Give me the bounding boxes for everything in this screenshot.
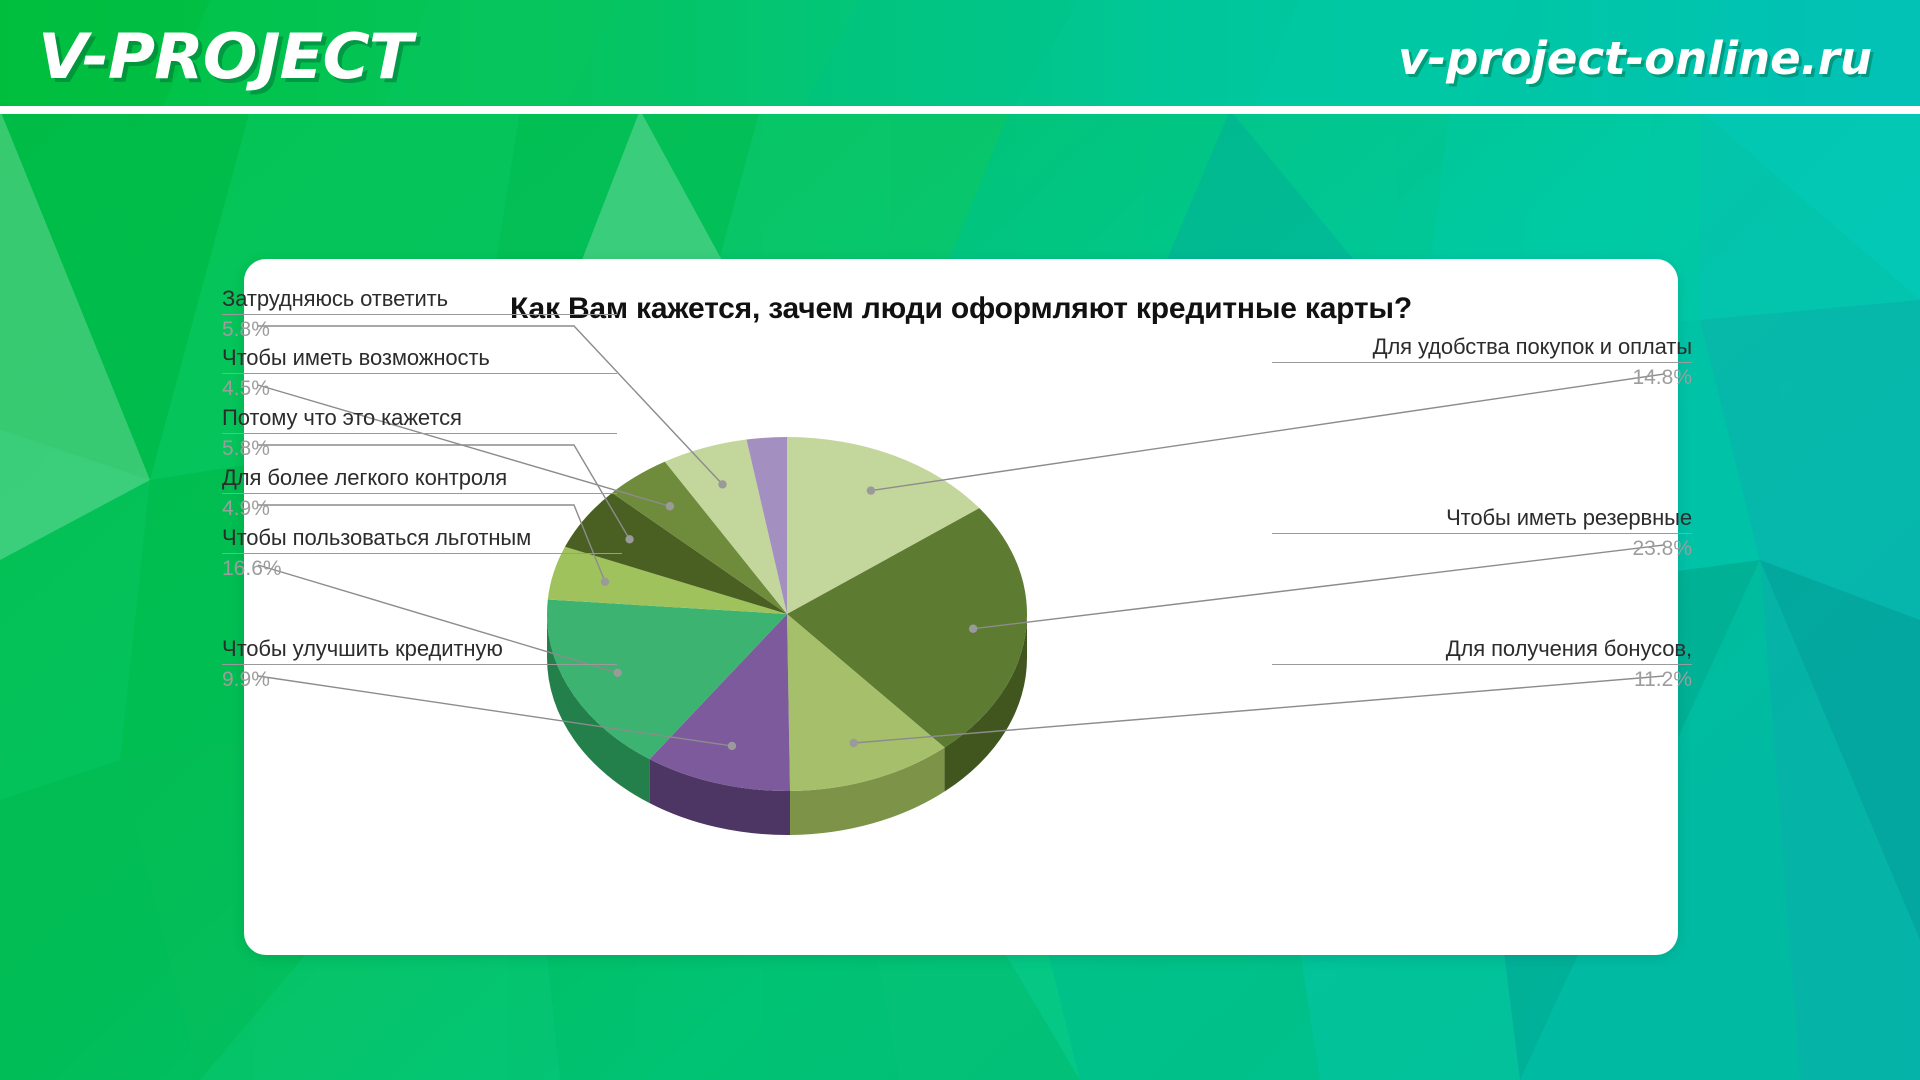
callout-udobstva: Для удобства покупок и оплаты 14.8% — [1272, 333, 1692, 392]
callout-zatrudnyayus: Затрудняюсь ответить 5.8% — [222, 285, 617, 344]
callout-value: 11.2% — [1272, 666, 1692, 694]
header-divider — [0, 106, 1920, 114]
callout-rule — [222, 493, 617, 494]
callout-value: 5.8% — [222, 316, 617, 344]
leader-dot — [969, 625, 977, 633]
callout-rule — [222, 373, 617, 374]
callout-rule — [1272, 362, 1692, 363]
callout-label: Потому что это кажется — [222, 404, 617, 432]
callout-value: 4.9% — [222, 495, 617, 523]
header-bar: V-PROJECT v-project-online.ru — [0, 0, 1920, 113]
brand-logo: V-PROJECT — [38, 20, 412, 93]
callout-value: 5.8% — [222, 435, 617, 463]
callout-rule — [222, 553, 622, 554]
callout-value: 4.5% — [222, 375, 617, 403]
pie-slice[interactable] — [650, 614, 790, 791]
callout-rule — [222, 433, 617, 434]
callout-label: Для удобства покупок и оплаты — [1272, 333, 1692, 361]
pie-slice[interactable] — [787, 508, 1027, 747]
callout-label: Чтобы иметь резервные — [1272, 504, 1692, 532]
site-url: v-project-online.ru — [1398, 32, 1872, 85]
callout-rezervnye: Чтобы иметь резервные 23.8% — [1272, 504, 1692, 563]
pie-slice[interactable] — [787, 614, 945, 791]
leader-dot — [728, 742, 736, 750]
pie-slice-side — [790, 748, 945, 835]
callout-label: Чтобы пользоваться льготным — [222, 524, 622, 552]
pie-slice[interactable] — [746, 437, 787, 614]
slide: V-PROJECT v-project-online.ru Как Вам ка… — [0, 0, 1920, 1080]
callout-label: Чтобы иметь возможность — [222, 344, 617, 372]
callout-bonusov: Для получения бонусов, 11.2% — [1272, 635, 1692, 694]
callout-value: 9.9% — [222, 666, 617, 694]
callout-kazhetsya: Потому что это кажется 5.8% — [222, 404, 617, 463]
callout-rule — [222, 664, 617, 665]
callout-rule — [1272, 664, 1692, 665]
pie-slice[interactable] — [612, 462, 787, 614]
callout-rule — [222, 314, 617, 315]
callout-label: Затрудняюсь ответить — [222, 285, 617, 313]
callout-kontrol: Для более легкого контроля 4.9% — [222, 464, 617, 523]
callout-vozmozhnost: Чтобы иметь возможность 4.5% — [222, 344, 617, 403]
callout-label: Для получения бонусов, — [1272, 635, 1692, 663]
chart-card: Как Вам кажется, зачем люди оформляют кр… — [244, 259, 1678, 955]
leader-dot — [625, 535, 633, 543]
callout-label: Чтобы улучшить кредитную — [222, 635, 617, 663]
leader-dot — [867, 486, 875, 494]
callout-value: 16.6% — [222, 555, 622, 583]
callout-lgotnym: Чтобы пользоваться льготным 16.6% — [222, 524, 622, 583]
leader-dot — [666, 502, 674, 510]
callout-value: 14.8% — [1272, 364, 1692, 392]
callout-rule — [1272, 533, 1692, 534]
leader-dot — [850, 739, 858, 747]
pie-slice-side — [650, 759, 790, 835]
callout-value: 23.8% — [1272, 535, 1692, 563]
pie-slice-side — [945, 614, 1027, 792]
callout-label: Для более легкого контроля — [222, 464, 617, 492]
callout-kreditnuyu: Чтобы улучшить кредитную 9.9% — [222, 635, 617, 694]
leader-dot — [718, 480, 726, 488]
pie-slice[interactable] — [665, 440, 787, 614]
pie-slice[interactable] — [787, 437, 979, 614]
